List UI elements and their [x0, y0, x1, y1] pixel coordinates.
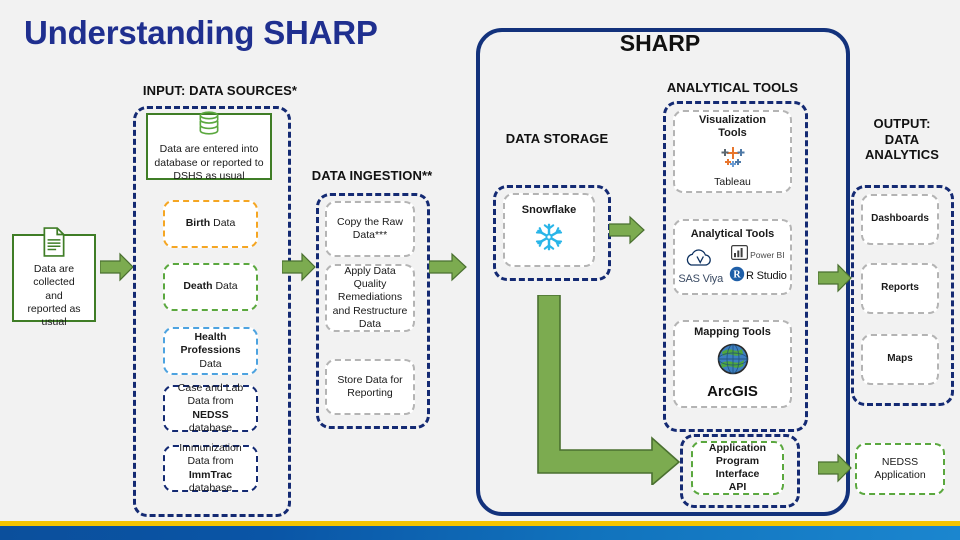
arrow-api-to-nedss-app: [818, 453, 852, 488]
birth-data-suffix: Data: [210, 217, 235, 229]
store-data-line1: Store Data for: [337, 374, 402, 387]
death-data-suffix: Data: [213, 280, 238, 292]
viz-tools-line1: Visualization: [699, 114, 766, 128]
output-reports: Reports: [861, 263, 939, 314]
output-dashboards: Dashboards: [861, 194, 939, 245]
arrow-input-to-ingestion: [282, 252, 316, 287]
api-line2: Program: [716, 455, 759, 468]
data-collected-line3: and: [45, 290, 63, 303]
mapping-tools-box: Mapping Tools ArcGIS: [673, 320, 792, 408]
copy-raw-line2: Data***: [353, 229, 387, 242]
source-death-data: Death Data: [163, 263, 258, 311]
snowflake-icon: [534, 222, 564, 256]
visualization-tools-box: Visualization Tools: [673, 110, 792, 193]
nedss-line3: NEDSS: [192, 409, 228, 422]
health-prof-line2: Professions: [180, 344, 240, 357]
immtrac-line2: Data from: [187, 455, 233, 468]
source-birth-data: Birth Data: [163, 200, 258, 248]
store-data-line2: Reporting: [347, 387, 393, 400]
apply-quality-line5: Data: [359, 318, 381, 331]
nedss-app-line1: NEDSS: [882, 456, 918, 469]
reports-label: Reports: [881, 282, 919, 295]
nedss-app-line2: Application: [874, 469, 925, 482]
nedss-line2: Data from: [187, 395, 233, 408]
rstudio-icon: R: [729, 266, 745, 286]
footer-blue-band: [0, 526, 960, 540]
arcgis-label: ArcGIS: [707, 383, 758, 402]
power-bi-label: Power BI: [750, 250, 785, 261]
page-title: Understanding SHARP: [24, 14, 378, 52]
section-label-output-line1: OUTPUT:: [848, 116, 956, 132]
nedss-line1: Case and Lab: [178, 382, 243, 395]
analytical-tools-box: Analytical Tools SAS Viya: [673, 219, 792, 295]
source-database-entry: Data are entered into database or report…: [146, 113, 272, 180]
rstudio-label: R Studio: [746, 270, 787, 284]
arrow-storage-to-api-elbow: [534, 295, 684, 490]
diagram-canvas: Understanding SHARP SHARP INPUT: DATA SO…: [0, 0, 960, 540]
apply-quality-line2: Quality: [354, 278, 387, 291]
source-nedss-data: Case and Lab Data from NEDSS database: [163, 385, 258, 432]
source-db-line2: database or reported to: [154, 157, 263, 170]
arrow-collect-to-input: [100, 252, 134, 287]
source-immtrac-data: Immunization Data from ImmTrac database: [163, 445, 258, 492]
ingestion-copy-raw-data: Copy the Raw Data***: [325, 201, 415, 257]
data-collected-box: Data are collected and reported as usual: [12, 234, 96, 322]
death-data-bold: Death: [183, 280, 212, 292]
tableau-label: Tableau: [714, 176, 751, 189]
immtrac-line3: ImmTrac: [189, 469, 232, 482]
arrow-ingestion-to-storage: [429, 252, 467, 287]
api-line3: Interface: [716, 468, 760, 481]
health-prof-line1: Health: [194, 331, 226, 344]
source-db-line1: Data are entered into: [160, 143, 259, 156]
source-db-line3: DSHS as usual: [173, 170, 244, 183]
copy-raw-line1: Copy the Raw: [337, 216, 403, 229]
ingestion-store-data: Store Data for Reporting: [325, 359, 415, 415]
api-box: Application Program Interface API: [691, 441, 784, 495]
section-label-input: INPUT: DATA SOURCES*: [110, 83, 330, 99]
output-maps: Maps: [861, 334, 939, 385]
immtrac-line1: Immunization: [179, 442, 241, 455]
viz-tools-line2: Tools: [718, 127, 747, 141]
section-label-storage: DATA STORAGE: [482, 131, 632, 147]
storage-snowflake-box: Snowflake: [503, 193, 595, 267]
section-label-output-line3: ANALYTICS: [848, 147, 956, 163]
ingestion-apply-quality: Apply Data Quality Remediations and Rest…: [325, 264, 415, 332]
arrow-storage-to-analytics: [609, 215, 645, 250]
sharp-label: SHARP: [560, 30, 760, 57]
apply-quality-line3: Remediations: [338, 291, 402, 304]
arcgis-globe-icon: [716, 342, 750, 380]
sas-viya-label: SAS Viya: [678, 273, 723, 287]
apply-quality-line1: Apply Data: [344, 265, 395, 278]
document-icon: [41, 227, 67, 263]
maps-label: Maps: [887, 353, 913, 366]
api-line4: API: [729, 481, 747, 494]
section-label-analytics: ANALYTICAL TOOLS: [645, 80, 820, 96]
health-prof-line3: Data: [199, 358, 221, 371]
power-bi-icon: [731, 245, 748, 264]
nedss-application-box: NEDSS Application: [855, 443, 945, 495]
data-collected-line4: reported as: [27, 303, 80, 316]
data-collected-line1: Data are: [34, 263, 74, 276]
arrow-analytics-to-output: [818, 263, 852, 298]
data-collected-line5: usual: [41, 316, 66, 329]
sas-viya-icon: [686, 249, 716, 273]
immtrac-line4: database: [189, 482, 232, 495]
source-health-professions-data: Health Professions Data: [163, 327, 258, 375]
apply-quality-line4: and Restructure: [333, 305, 408, 318]
section-label-ingestion: DATA INGESTION**: [292, 168, 452, 184]
birth-data-bold: Birth: [186, 217, 211, 229]
data-collected-line2: collected: [33, 276, 74, 289]
tableau-icon: [718, 143, 748, 175]
database-icon: [196, 110, 222, 143]
analytical-tools-heading: Analytical Tools: [691, 228, 775, 242]
mapping-tools-heading: Mapping Tools: [694, 326, 771, 340]
svg-text:R: R: [733, 270, 741, 281]
dashboards-label: Dashboards: [871, 213, 929, 226]
nedss-line4: database: [189, 422, 232, 435]
snowflake-label: Snowflake: [522, 204, 576, 218]
api-line1: Application: [709, 442, 766, 455]
section-label-output-line2: DATA: [848, 132, 956, 148]
